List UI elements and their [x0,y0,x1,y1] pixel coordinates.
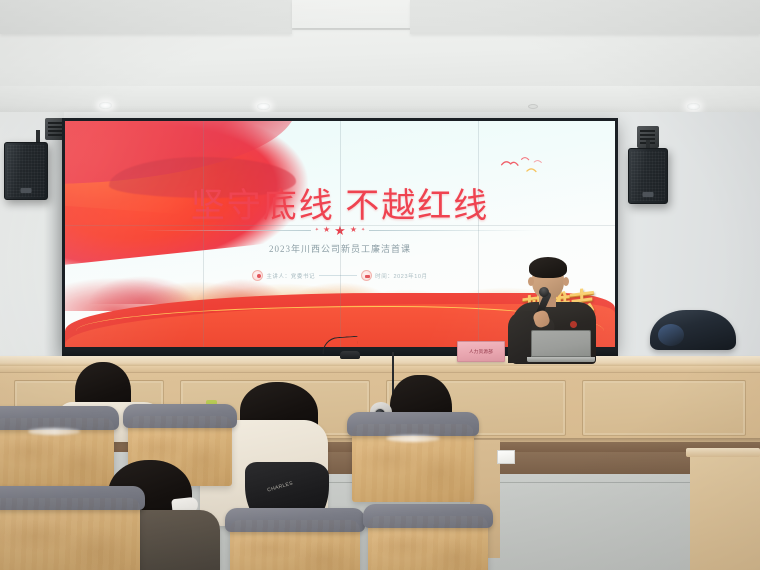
smoke-detector-icon [528,104,538,109]
panel-seam-v3 [478,121,479,347]
ceiling-beam-right [410,0,760,34]
laptop[interactable] [527,330,595,362]
speaker-logo-left [21,188,32,193]
downlight-1 [99,102,112,109]
speaker-logo-right [643,192,654,197]
name-card: 人力资源部 [457,341,505,362]
wall-speaker-right [628,148,668,204]
seat-front-3[interactable] [368,516,488,570]
panel-seam-h1 [65,225,615,226]
seat-back-1[interactable] [0,418,114,492]
gooseneck-microphone [320,337,374,359]
conference-room-scene: 坚守底线 不越红线 ✦ ★ ★ ★ ✦ 2023年川西公司新员工廉洁首课 主讲人… [0,0,760,570]
divider-line-left [142,230,311,231]
downlight-2 [257,103,270,110]
name-card-label: 人力资源部 [469,349,493,355]
bag-highlight [658,324,684,346]
seat-highlight-1 [28,428,81,435]
divider-line-right [369,230,538,231]
side-table-top [686,448,760,457]
paper-sheet [497,450,515,464]
presenter-badge [570,321,577,328]
presenter-hair [529,257,567,278]
wall-speaker-left [4,142,48,200]
seat-grain-6 [368,516,488,570]
desk-panel-4 [582,380,746,436]
seat-back-3[interactable] [352,424,474,502]
downlight-3 [687,103,700,110]
microphone-base [340,351,360,359]
panel-seam-v2 [340,121,341,347]
seat-highlight-3 [386,435,440,442]
seat-front-1[interactable] [0,498,140,570]
duffel-bag [650,310,736,350]
star-icon-1: ✦ [315,228,319,233]
ceiling-beam-left [0,0,292,34]
seat-grain-5 [230,520,360,570]
presenter-ear-left [528,277,534,286]
star-icon-2: ★ [323,226,330,234]
panel-seam-v1 [203,121,204,347]
star-icon-5: ✦ [361,228,365,233]
seat-grain-4 [0,498,140,570]
presenter-ear-right [563,277,569,286]
star-icon-4: ★ [350,226,357,234]
side-table [690,452,760,570]
ceiling-beam-center [292,0,410,28]
laptop-base [527,357,595,362]
handbag-brand-label: CHARLES [267,480,294,493]
laptop-screen [531,330,591,357]
seat-front-2[interactable] [230,520,360,570]
